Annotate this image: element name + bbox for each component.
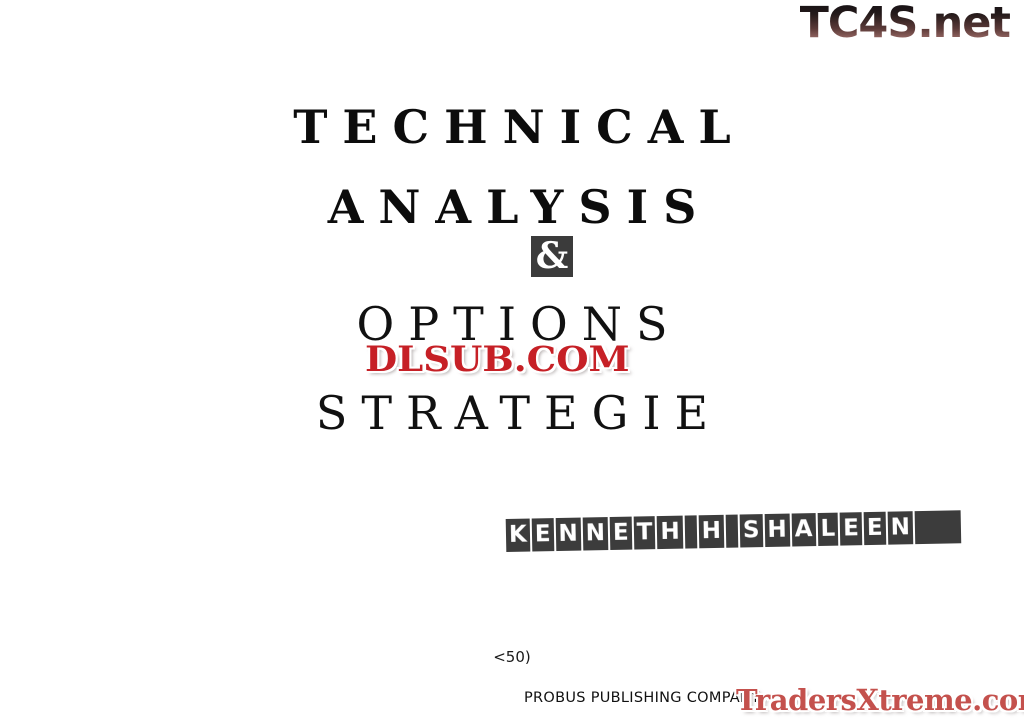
tradersxtreme-watermark: TradersXtreme.com xyxy=(736,686,1024,715)
publisher-logo: <50) xyxy=(0,648,1024,666)
publisher-name: PROBUS PUBLISHING COMPANY xyxy=(524,690,760,706)
dlsub-watermark: DLSUB.COM xyxy=(365,342,630,377)
author-name-tile: N xyxy=(887,511,913,544)
tc4s-watermark: TC4S.net xyxy=(800,2,1010,45)
author-name-tile: H xyxy=(657,516,683,549)
author-name-tile: E xyxy=(864,512,886,545)
author-name-tile xyxy=(726,515,739,548)
author-name-tile: N xyxy=(582,517,608,550)
author-name-tile: K xyxy=(506,519,530,552)
author-name-tile: E xyxy=(532,518,554,551)
author-name-tile: T xyxy=(633,516,655,549)
author-name-tile: H xyxy=(698,515,724,548)
title-line-strategie: STRATEGIE xyxy=(0,386,1024,440)
author-name-tile: E xyxy=(610,517,632,550)
author-name-tile xyxy=(684,515,697,548)
author-name-tile: L xyxy=(817,513,838,546)
book-title-page: TC4S.net TECHNICAL ANALYSIS & OPTIONS DL… xyxy=(0,0,1024,724)
author-name-tile xyxy=(915,510,962,544)
author-name-tile: A xyxy=(791,513,815,546)
author-name-tile: S xyxy=(740,514,763,547)
author-name-tile: H xyxy=(764,514,790,547)
author-name-tile: E xyxy=(840,512,862,545)
ampersand-block: & xyxy=(531,236,573,277)
title-line-technical: TECHNICAL xyxy=(0,100,1024,154)
author-name-strip: KENNETHHSHALEEN xyxy=(506,510,962,552)
author-name-tile: N xyxy=(555,518,581,551)
title-line-analysis: ANALYSIS xyxy=(0,180,1024,234)
